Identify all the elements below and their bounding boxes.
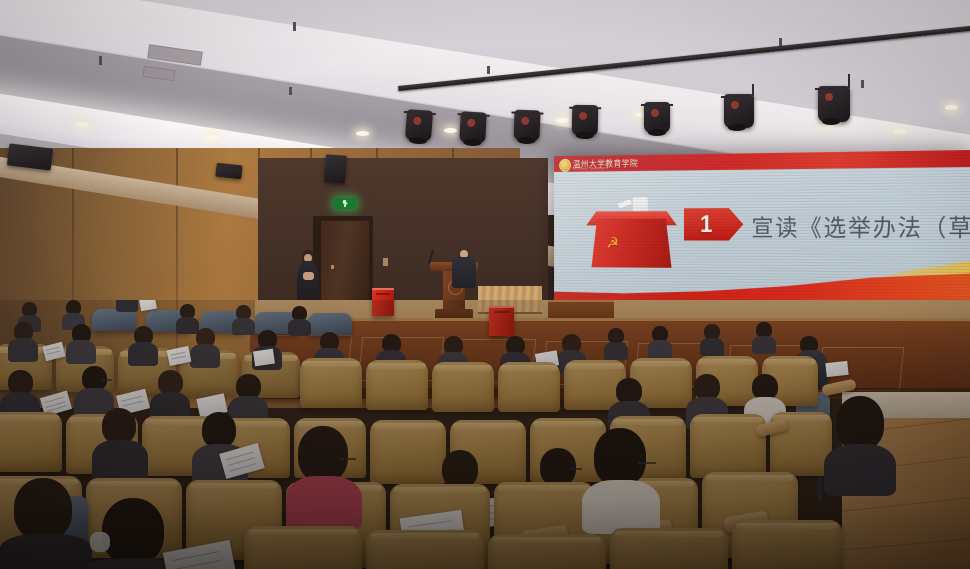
agenda-number: 1 xyxy=(700,211,712,239)
attendee xyxy=(824,396,896,496)
hammer-and-sickle-icon: ☭ xyxy=(605,236,620,252)
stage-light xyxy=(644,102,670,133)
stage-light xyxy=(818,86,850,122)
university-seal-icon xyxy=(559,158,571,171)
truss-cable xyxy=(848,74,850,88)
ceiling-hook xyxy=(861,80,864,88)
stage-light xyxy=(724,94,754,128)
stage-light xyxy=(513,110,540,142)
attendee xyxy=(190,328,220,368)
attendee xyxy=(582,428,660,534)
led-screen: 温州大学教育学院 WENZHOU UNIVERSITY ☭ 1 宣读《选举办法（… xyxy=(554,150,970,312)
attendee xyxy=(648,326,672,358)
ceiling-hook xyxy=(99,56,102,65)
attendee xyxy=(288,306,311,336)
ballot-paper xyxy=(253,349,275,367)
wall-speaker xyxy=(324,154,347,183)
seat xyxy=(432,362,494,412)
seat xyxy=(610,528,728,569)
attendee xyxy=(8,322,38,362)
seat xyxy=(366,360,428,410)
presenter xyxy=(452,246,476,288)
attendee xyxy=(116,300,138,312)
screen-org-subtitle: WENZHOU UNIVERSITY xyxy=(573,166,609,170)
seat xyxy=(732,520,842,569)
attendee xyxy=(700,324,724,356)
seat xyxy=(488,534,606,569)
seat xyxy=(366,530,484,569)
audience-seating xyxy=(0,300,970,569)
stage-light xyxy=(405,109,433,142)
attendee xyxy=(0,478,92,569)
attendee xyxy=(92,408,148,482)
ceiling-downlight xyxy=(356,131,369,136)
agenda-title: 宣读《选举办法（草案）》 xyxy=(751,208,970,242)
ceiling-hook xyxy=(293,22,296,31)
seat xyxy=(498,362,560,412)
auditorium-photo: 温州大学教育学院 WENZHOU UNIVERSITY ☭ 1 宣读《选举办法（… xyxy=(0,0,970,569)
truss-cable xyxy=(752,84,754,96)
attendee xyxy=(128,326,158,366)
ballot-paper xyxy=(825,361,848,377)
door-knob-icon[interactable] xyxy=(331,265,334,269)
attendee xyxy=(66,324,96,364)
ceiling-downlight xyxy=(444,128,457,133)
stage-light xyxy=(459,111,487,143)
stage-light xyxy=(572,105,599,136)
ceiling-downlight xyxy=(556,118,569,123)
attendee xyxy=(286,426,362,530)
ceiling-downlight xyxy=(893,129,906,134)
seat xyxy=(300,358,362,408)
ceiling-downlight xyxy=(206,135,219,140)
wall-speaker xyxy=(215,163,242,180)
exit-sign-icon xyxy=(334,198,356,209)
attendee xyxy=(604,328,628,360)
ceiling-downlight xyxy=(76,122,89,127)
attendee xyxy=(752,322,776,354)
seat xyxy=(690,414,766,478)
ceiling-downlight xyxy=(945,105,958,110)
wall-switch[interactable] xyxy=(383,258,388,266)
seat xyxy=(0,412,62,472)
ceiling-hook xyxy=(289,87,292,95)
ceiling-hook xyxy=(487,66,490,74)
seat xyxy=(244,526,362,569)
